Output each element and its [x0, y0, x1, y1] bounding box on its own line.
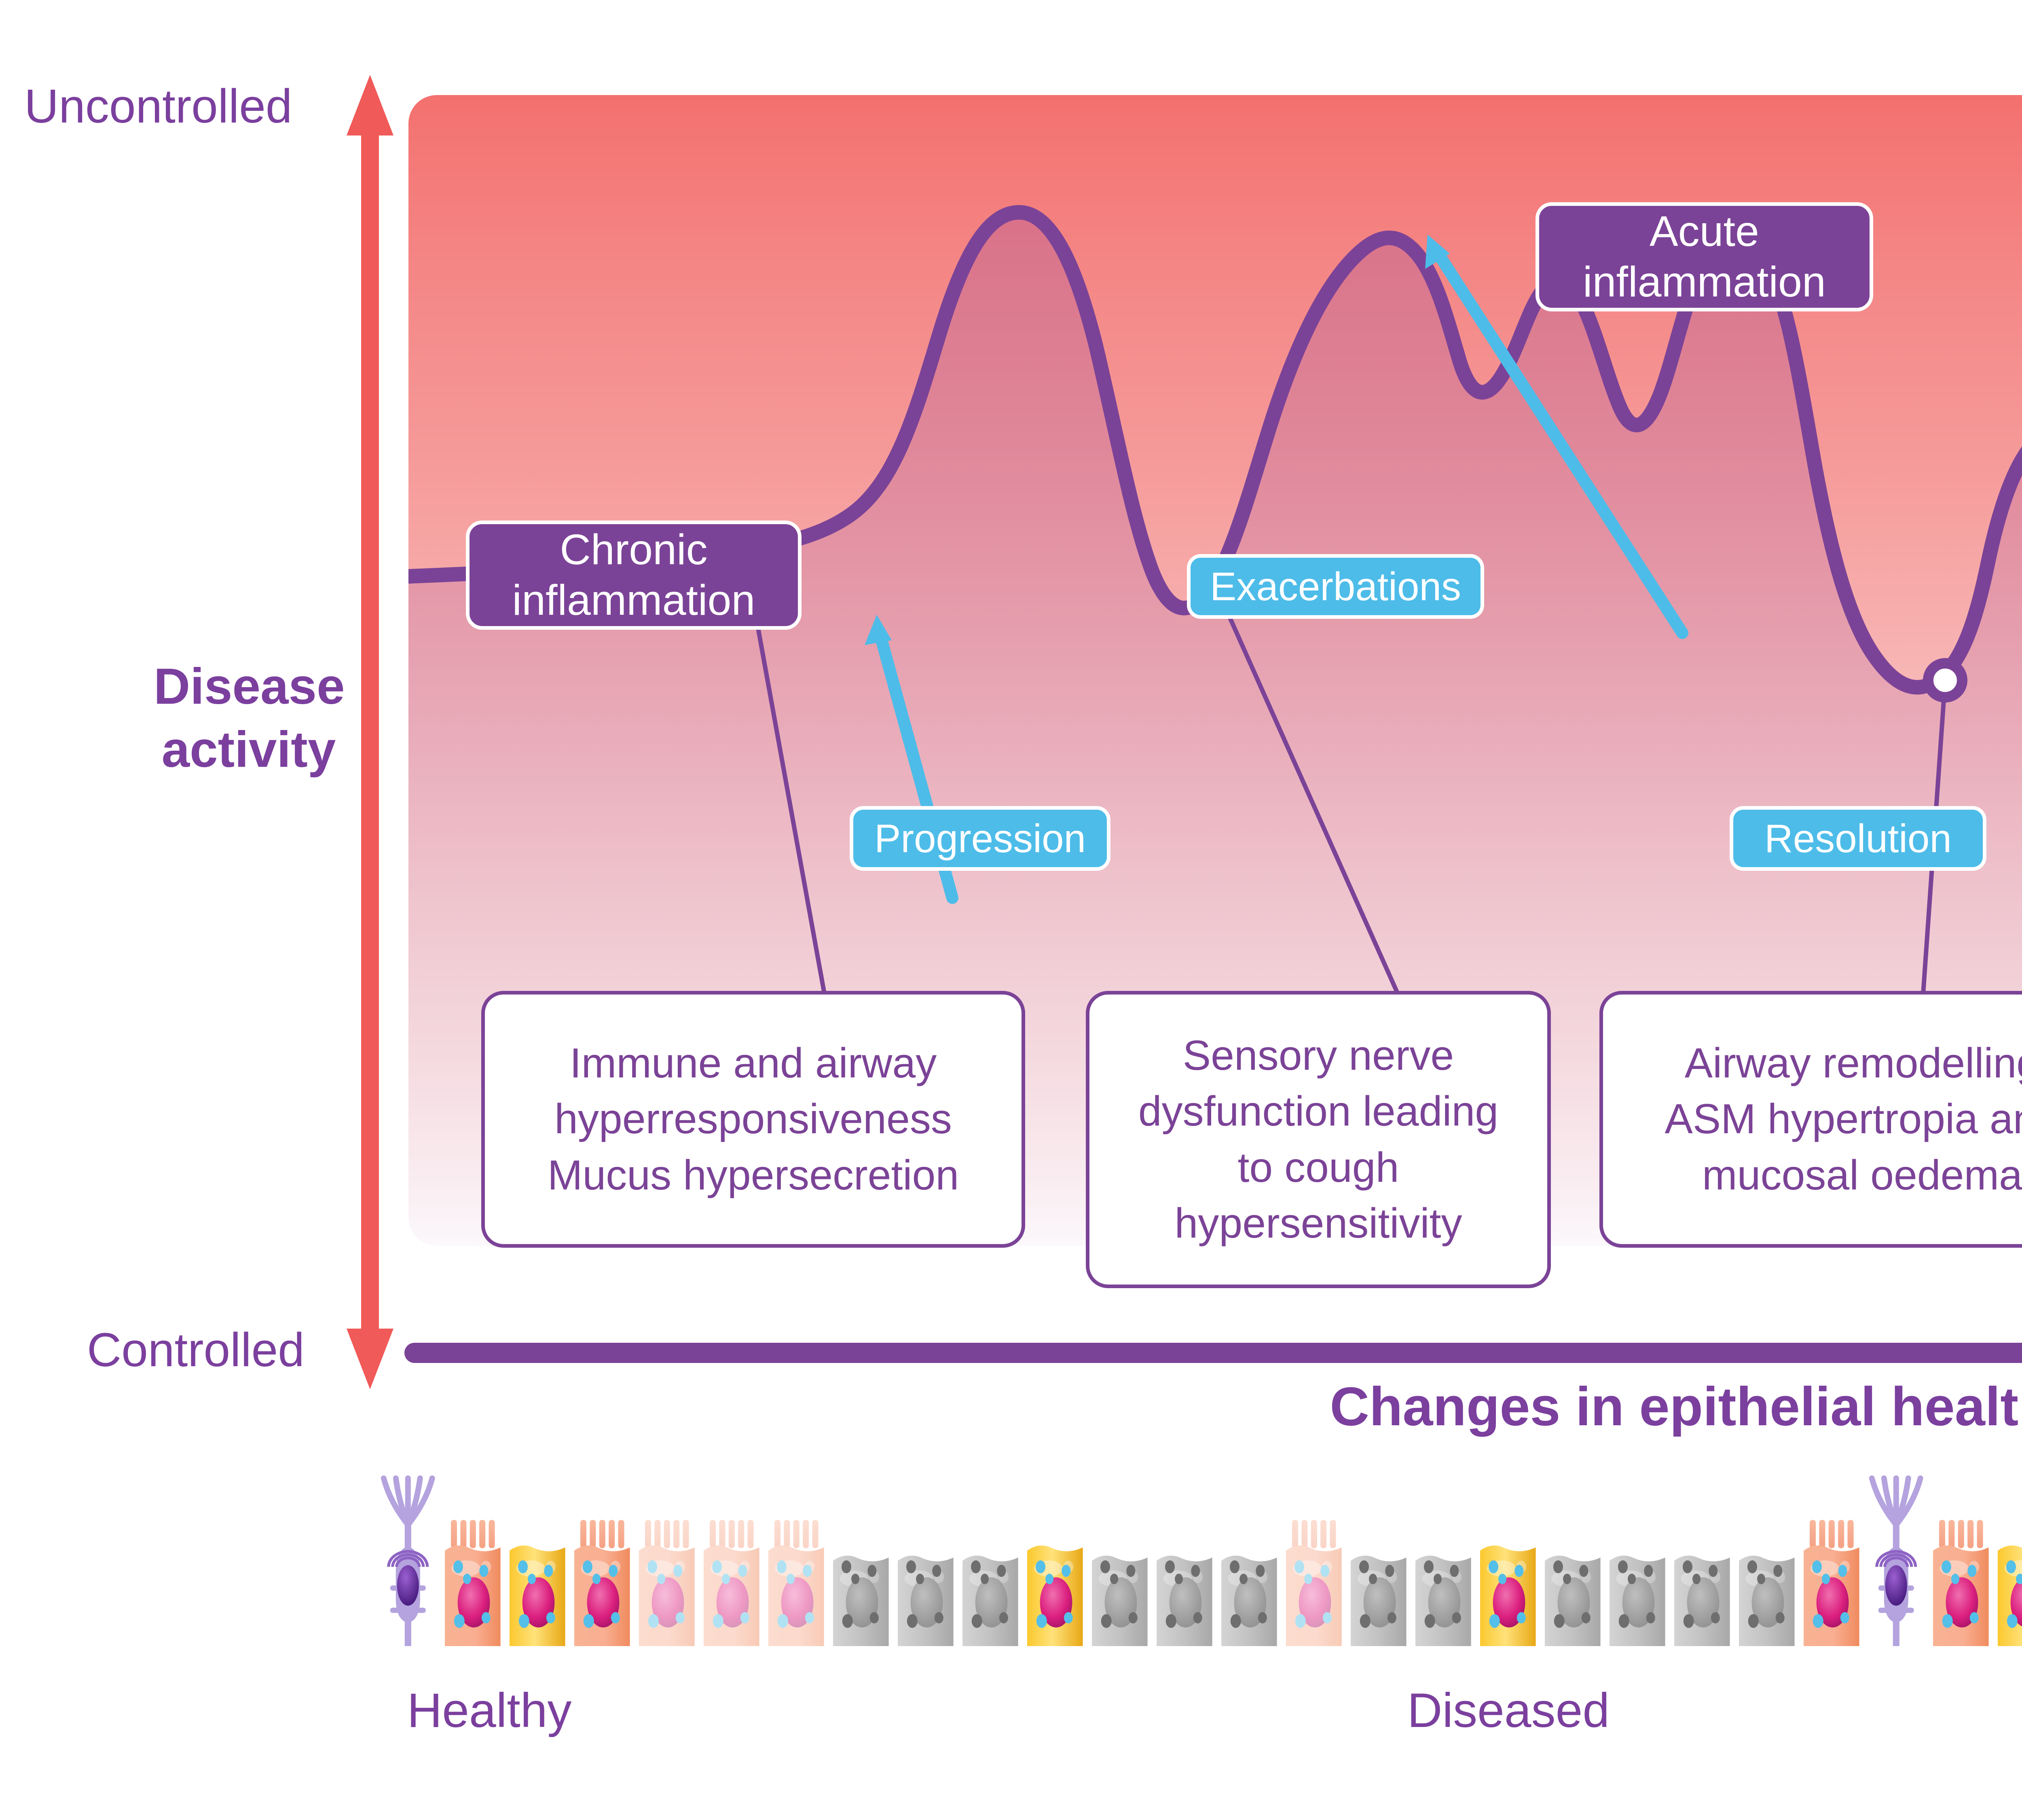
callout-3-line-2: ASM hypertropia and — [1665, 1091, 2022, 1147]
resolution-chip[interactable]: Resolution — [1730, 806, 1986, 871]
callout-3-line-3: mucosal oedema — [1665, 1147, 2022, 1203]
callout-3-line-1: Airway remodelling — [1665, 1035, 2022, 1091]
acute-chip-line-1: Acute — [1583, 206, 1826, 257]
epithelium-cell-strip — [376, 1456, 2022, 1658]
exacerbations-chip-label: Exacerbations — [1210, 564, 1461, 609]
y-axis-top-label: Uncontrolled — [24, 79, 292, 134]
y-axis-title-line-2: activity — [154, 718, 344, 781]
callout-immune-airway[interactable]: Immune and airway hyperresponsiveness Mu… — [481, 991, 1025, 1248]
callout-2-line-4: hypersensitivity — [1138, 1196, 1498, 1251]
progression-chip-label: Progression — [874, 816, 1086, 861]
resolution-chip-label: Resolution — [1764, 816, 1952, 861]
disease-activity-axis-arrow — [346, 75, 394, 1389]
progression-chip[interactable]: Progression — [850, 806, 1110, 871]
callout-2-line-1: Sensory nerve — [1138, 1028, 1498, 1084]
chronic-chip-line-2: inflammation — [512, 575, 755, 626]
callout-airway-remodelling[interactable]: Airway remodelling ASM hypertropia and m… — [1599, 991, 2022, 1248]
y-axis-title-line-1: Disease — [154, 655, 344, 718]
callout-2-line-3: to cough — [1138, 1140, 1498, 1196]
acute-inflammation-chip[interactable]: Acute inflammation — [1536, 202, 1873, 311]
chronic-inflammation-chip[interactable]: Chronic inflammation — [466, 521, 802, 630]
curve-marker-resolution — [1928, 663, 1962, 697]
callout-1-line-1: Immune and airway — [548, 1035, 959, 1091]
y-axis-title: Disease activity — [154, 655, 344, 782]
callout-1-line-3: Mucus hypersecretion — [548, 1147, 959, 1203]
callout-sensory-nerve[interactable]: Sensory nerve dysfunction leading to cou… — [1086, 991, 1551, 1288]
chronic-chip-line-1: Chronic — [512, 525, 755, 575]
acute-chip-line-2: inflammation — [1583, 257, 1826, 307]
x-axis-title: Changes in epithelial health over time — [404, 1375, 2022, 1438]
time-axis-arrow — [404, 1331, 2022, 1375]
callout-2-line-2: dysfunction leading — [1138, 1084, 1498, 1139]
state-label-diseased: Diseased — [1326, 1682, 1690, 1738]
callout-1-line-2: hyperresponsiveness — [548, 1091, 959, 1147]
state-label-healthy-left: Healthy — [307, 1682, 671, 1738]
figure-root: Uncontrolled Controlled Disease activity — [0, 0, 2022, 1820]
exacerbations-chip[interactable]: Exacerbations — [1187, 554, 1484, 619]
y-axis-bottom-label: Controlled — [87, 1323, 305, 1378]
